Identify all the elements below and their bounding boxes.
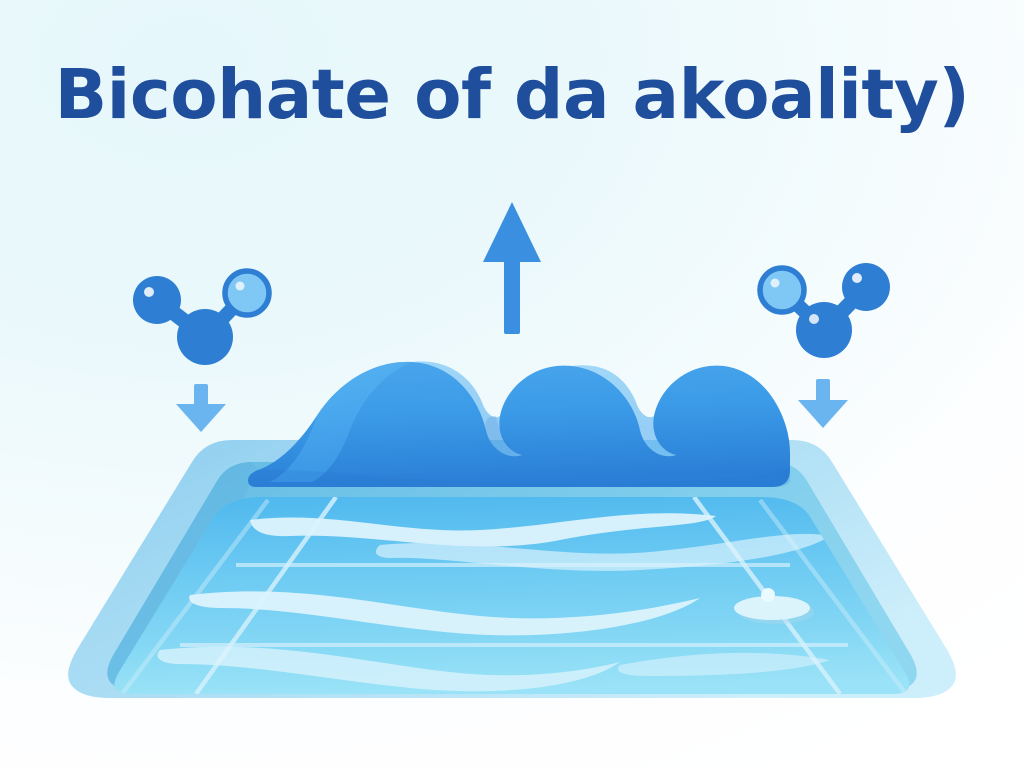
pool-rim-outer <box>68 440 956 698</box>
pool-grid-lines <box>122 497 906 694</box>
arrow-down-left-icon <box>176 384 226 432</box>
atom-left-ringed <box>760 268 804 312</box>
atom-left <box>133 276 181 324</box>
arrow-down-right-icon <box>798 379 848 428</box>
atom-center <box>177 309 233 365</box>
atom-right <box>842 263 890 311</box>
bond-right <box>205 293 247 337</box>
atom-left-highlight <box>771 279 780 288</box>
illustration-canvas: Bicohate of da akoality) <box>0 0 1024 768</box>
water-droplet-ripple <box>734 588 814 624</box>
molecule-left-icon <box>133 271 269 365</box>
molecule-right-icon <box>760 263 890 358</box>
atom-right-highlight <box>852 273 862 283</box>
waves-group <box>248 361 790 487</box>
page-title: Bicohate of da akoality) <box>0 58 1024 133</box>
water-ripples <box>157 513 830 691</box>
bond-left <box>157 300 205 337</box>
atom-left-highlight <box>144 287 154 297</box>
atom-right-ringed <box>225 271 269 315</box>
pool-shadow-left <box>107 462 258 683</box>
wave-body <box>248 362 790 487</box>
pool-grid-lines-horizontal <box>180 565 848 645</box>
wave-highlights <box>270 361 676 482</box>
pool-basin <box>68 440 956 698</box>
atom-center <box>796 302 852 358</box>
bond-left <box>782 290 824 330</box>
atom-center-highlight <box>809 314 819 324</box>
pool-water <box>115 497 910 694</box>
atom-right-highlight <box>236 282 245 291</box>
wave-shading <box>248 416 790 487</box>
pool-water-detail <box>122 497 906 694</box>
bond-right <box>824 287 866 330</box>
arrow-up-center-icon <box>483 202 541 334</box>
pool-rim-inner <box>107 462 916 692</box>
